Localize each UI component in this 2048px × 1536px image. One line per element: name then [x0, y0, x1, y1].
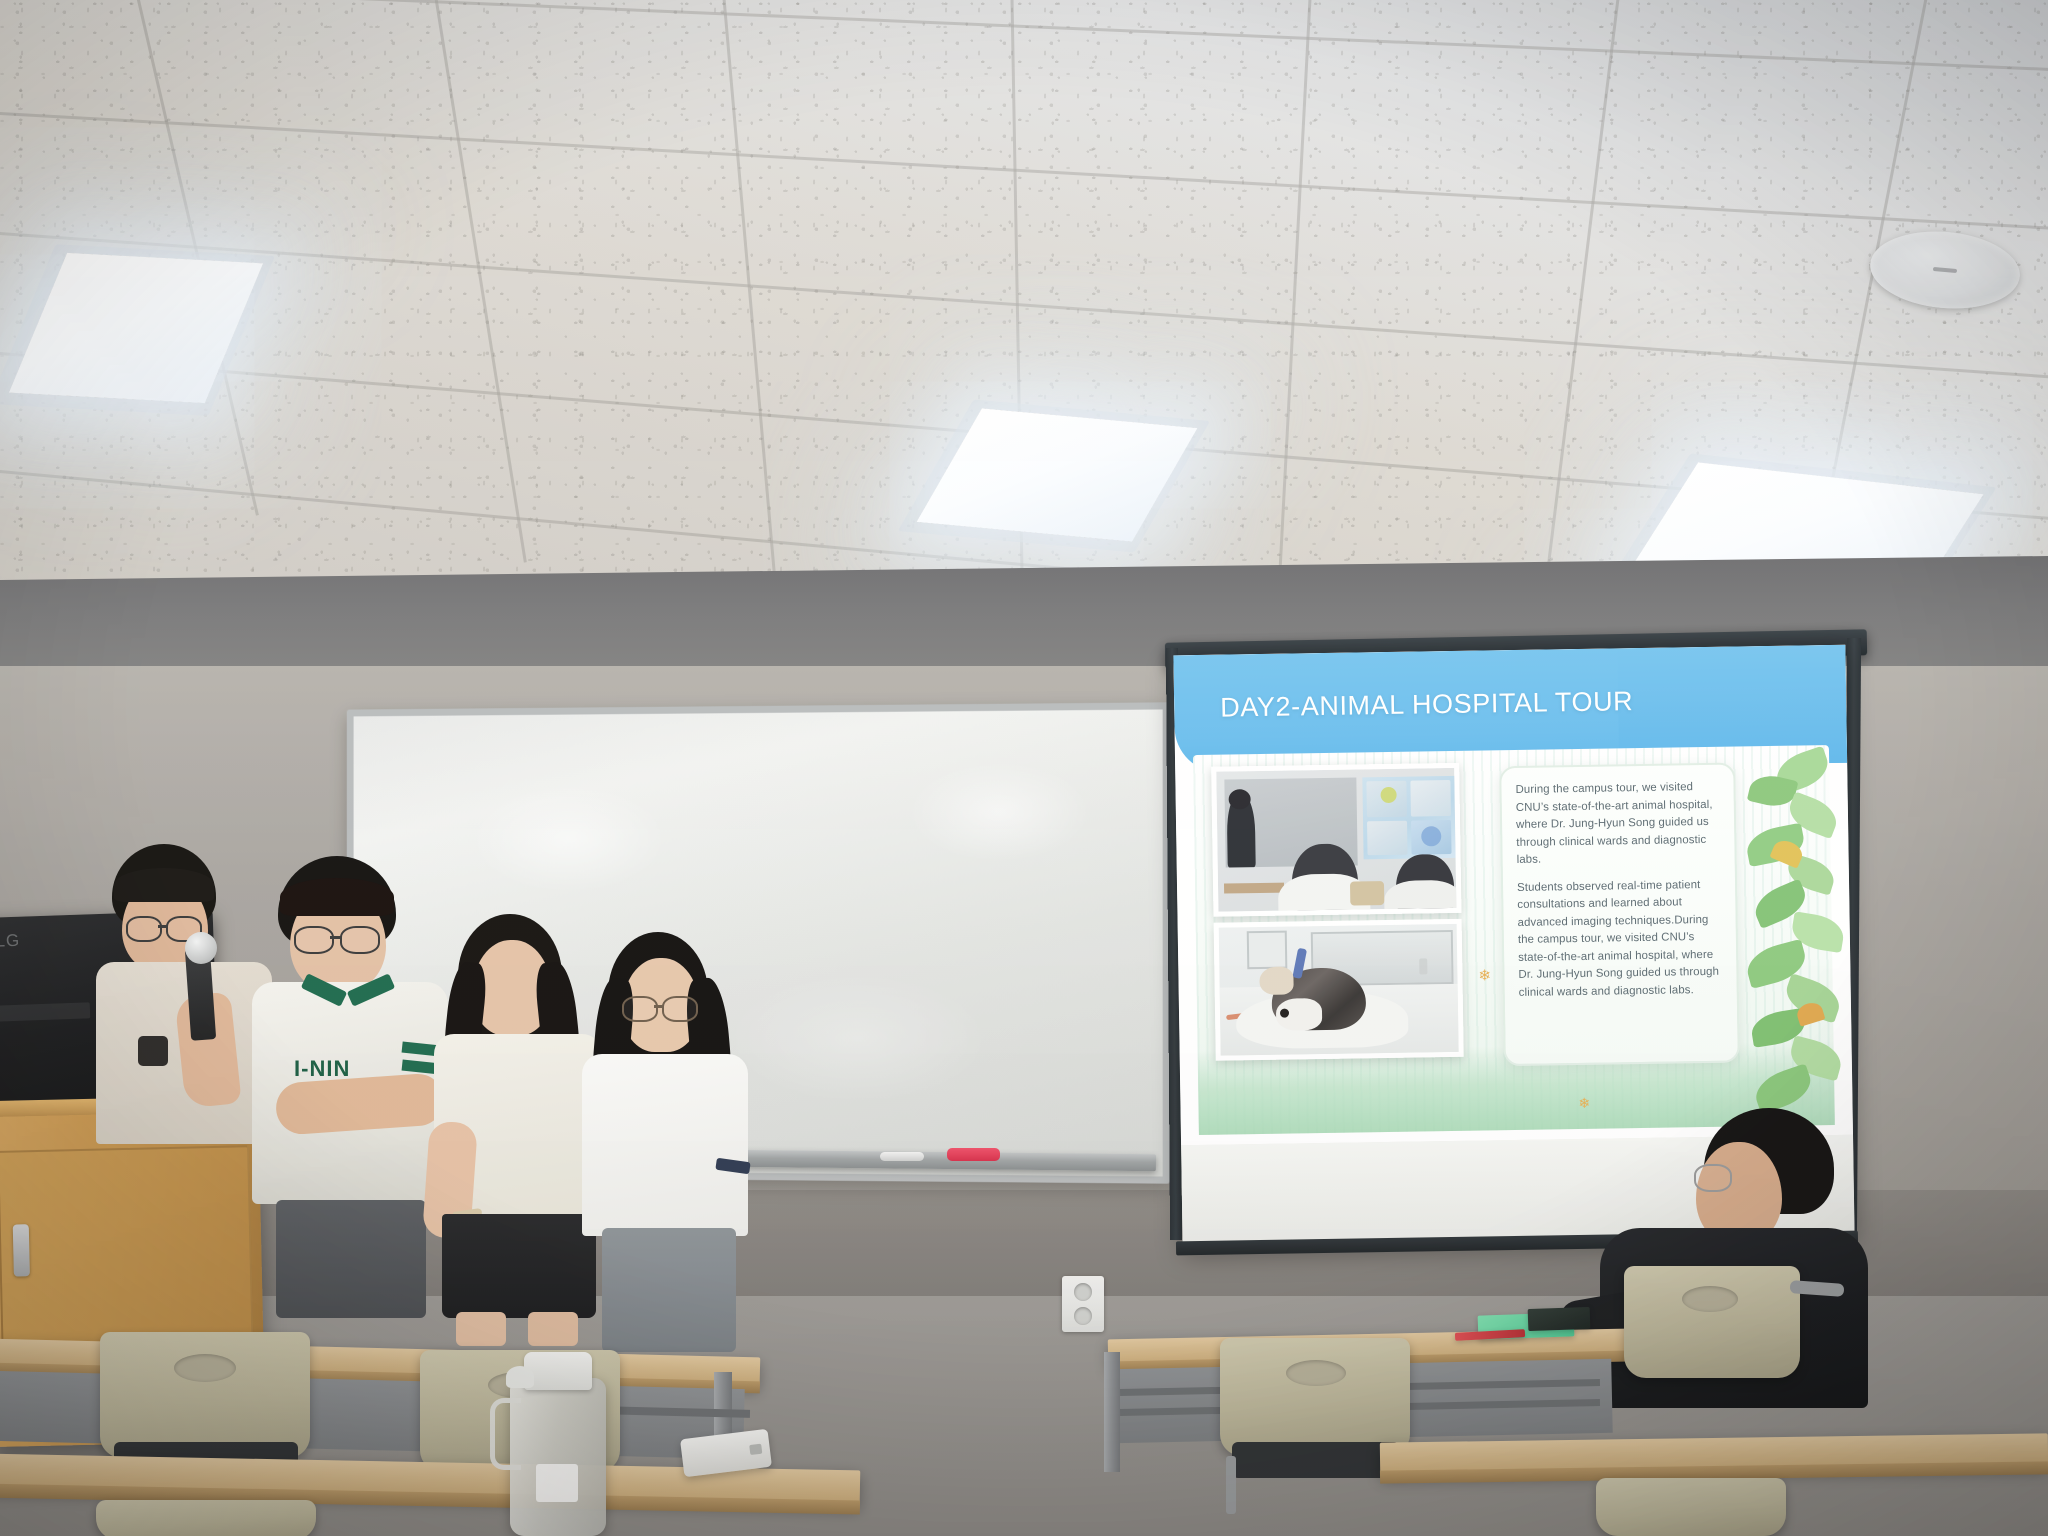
chair-left-front[interactable]	[96, 1500, 316, 1536]
presenter-4-tshirt	[582, 1054, 748, 1236]
dark-case[interactable]	[1528, 1307, 1591, 1331]
ceiling	[0, 0, 2048, 600]
presenter-white-tee-grey-pants	[578, 932, 760, 1352]
presenter-2-glasses	[294, 926, 334, 954]
presenter-green-polo: I-NIN	[250, 856, 460, 1316]
slide-paragraph-1: During the campus tour, we visited CNU’s…	[1515, 779, 1722, 870]
classroom-photo-scene: DAY2-ANIMAL HOSPITAL TOUR	[0, 0, 2048, 1536]
slide-photo-husky-exam	[1214, 919, 1464, 1061]
sparkle-icon-1: ❄	[1478, 966, 1491, 984]
slide-leaf-decoration	[1741, 745, 1853, 1129]
whiteboard-marker[interactable]	[880, 1152, 924, 1161]
water-bottle-cap[interactable]	[524, 1352, 592, 1390]
water-bottle-spout	[506, 1366, 534, 1388]
slide-paragraph-2: Students observed real-time patient cons…	[1517, 876, 1725, 1002]
microphone-head	[185, 932, 217, 964]
slide-title: DAY2-ANIMAL HOSPITAL TOUR	[1220, 686, 1634, 723]
podium-door-handle[interactable]	[13, 1224, 30, 1276]
monitor-brand-logo: LG	[0, 931, 21, 952]
water-bottle[interactable]	[510, 1378, 606, 1536]
presenter-4-trousers	[602, 1228, 736, 1352]
presentation-slide: DAY2-ANIMAL HOSPITAL TOUR	[1173, 645, 1853, 1145]
presenter-1-glasses	[126, 916, 162, 942]
attendee-glasses	[1694, 1164, 1732, 1192]
chair-attendee[interactable]	[1624, 1266, 1800, 1418]
water-bottle-handle[interactable]	[490, 1398, 521, 1470]
water-bottle-label	[536, 1464, 578, 1502]
wall-power-outlet[interactable]	[1062, 1276, 1104, 1332]
polo-shirt-lettering: I-NIN	[294, 1056, 350, 1082]
presenter-3-skirt	[442, 1214, 596, 1318]
slide-photo-lecture-room	[1211, 763, 1461, 917]
presenter-4-glasses	[622, 996, 658, 1022]
slide-text-card: During the campus tour, we visited CNU’s…	[1499, 763, 1740, 1067]
chair-right-front[interactable]	[1596, 1478, 1786, 1536]
presenter-2-trousers	[276, 1200, 426, 1318]
sparkle-icon-2: ❄	[1578, 1095, 1590, 1112]
red-eraser[interactable]	[947, 1148, 1000, 1161]
